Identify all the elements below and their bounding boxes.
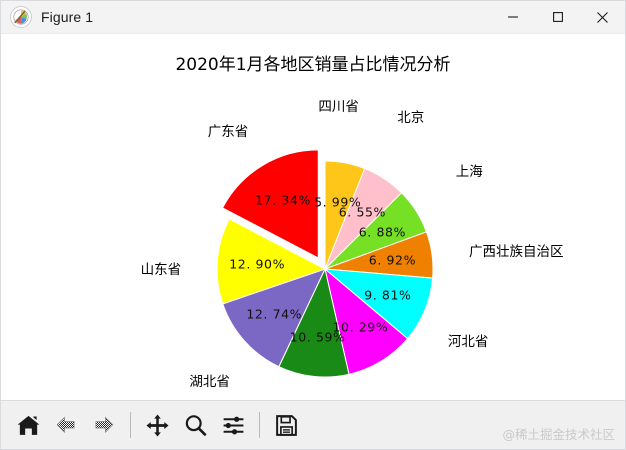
subplots-button[interactable] xyxy=(214,406,252,444)
toolbar-separator-2 xyxy=(259,412,260,438)
pie-chart: 5. 99%6. 55%6. 88%6. 92%9. 81%10. 29%10.… xyxy=(1,34,625,400)
pie-category-label: 北京 xyxy=(397,106,424,126)
pie-percent-label: 12. 74% xyxy=(246,307,302,322)
close-button[interactable] xyxy=(580,1,625,33)
pie-category-label: 山东省 xyxy=(141,258,182,278)
pie-category-label: 广西壮族自治区 xyxy=(469,240,564,260)
navigation-toolbar: @稀土掘金技术社区 xyxy=(1,400,625,449)
minimize-button[interactable] xyxy=(490,1,535,33)
pan-button[interactable] xyxy=(138,406,176,444)
maximize-button[interactable] xyxy=(535,1,580,33)
title-bar: Figure 1 xyxy=(1,1,625,34)
figure-window: Figure 1 2020年1月各地区销量占比情况分析 xyxy=(0,0,626,450)
save-button[interactable] xyxy=(267,406,305,444)
home-button[interactable] xyxy=(9,406,47,444)
pie-category-label: 湖北省 xyxy=(189,370,230,390)
matplotlib-icon xyxy=(10,6,32,28)
pie-percent-label: 6. 92% xyxy=(369,252,416,267)
pie-category-label: 河北省 xyxy=(448,330,489,350)
pie-percent-label: 17. 34% xyxy=(255,192,311,207)
toolbar-separator-1 xyxy=(130,412,131,438)
forward-button[interactable] xyxy=(85,406,123,444)
zoom-button[interactable] xyxy=(176,406,214,444)
pie-slices xyxy=(1,34,625,400)
back-button[interactable] xyxy=(47,406,85,444)
pie-category-label: 上海 xyxy=(456,160,483,180)
watermark-text: @稀土掘金技术社区 xyxy=(502,424,615,443)
pie-percent-label: 10. 59% xyxy=(290,329,346,344)
pie-category-label: 广东省 xyxy=(208,120,249,140)
window-title: Figure 1 xyxy=(41,9,93,25)
window-controls xyxy=(490,1,625,33)
pie-percent-label: 9. 81% xyxy=(364,288,411,303)
pie-category-label: 四川省 xyxy=(318,95,359,115)
figure-canvas[interactable]: 2020年1月各地区销量占比情况分析 5. 99%6. 55%6. 88%6. … xyxy=(1,34,625,400)
pie-percent-label: 6. 55% xyxy=(339,205,386,220)
pie-percent-label: 6. 88% xyxy=(359,225,406,240)
pie-percent-label: 12. 90% xyxy=(229,256,285,271)
